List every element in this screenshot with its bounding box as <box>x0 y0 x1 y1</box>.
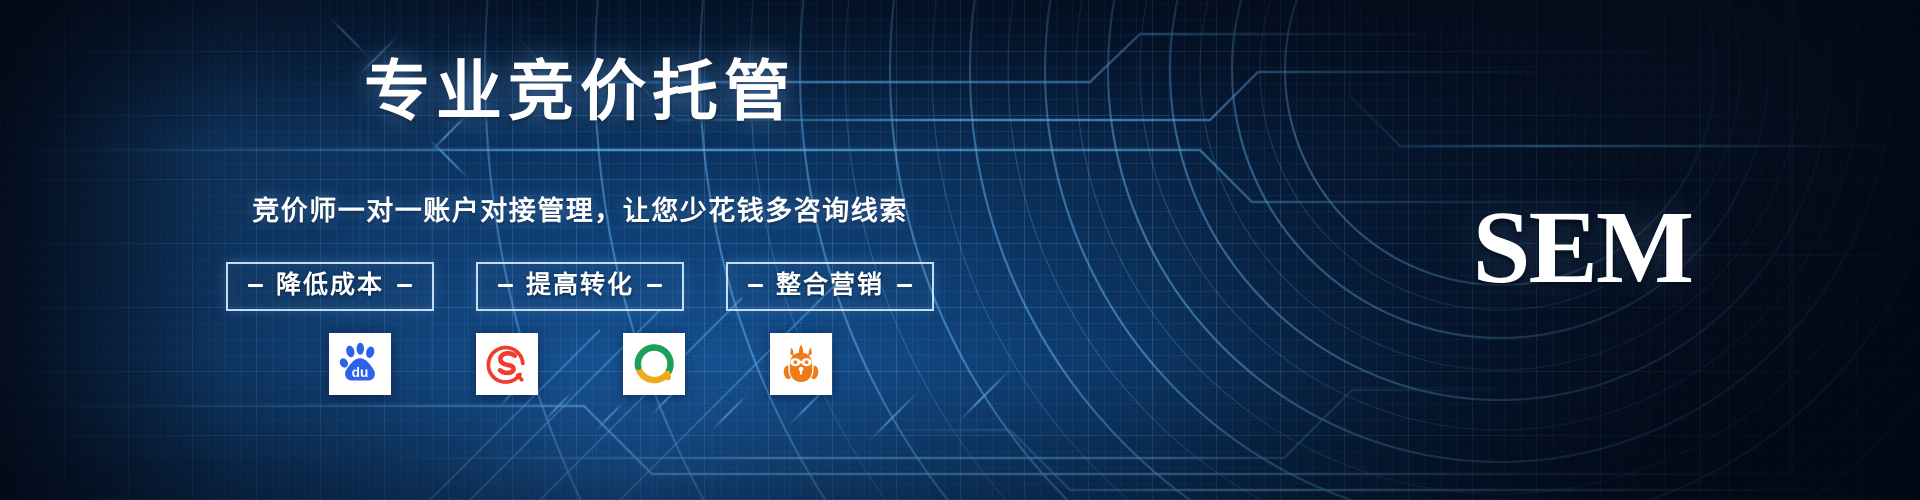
sogou-s-icon <box>484 341 530 387</box>
platform-logo-360-search[interactable] <box>623 333 685 395</box>
platform-logo-shenma[interactable] <box>770 333 832 395</box>
sem-wordmark: SEM <box>1473 196 1692 300</box>
badge-label: 整合营销 <box>776 273 884 298</box>
badge-label: 提高转化 <box>526 273 634 298</box>
feature-badge-improve-conversion[interactable]: 提高转化 <box>476 262 684 311</box>
baidu-paw-icon: du <box>337 341 383 387</box>
platform-logo-sogou[interactable] <box>476 333 538 395</box>
platform-logo-list: du <box>0 333 1160 395</box>
badge-lead-dash-icon <box>248 284 263 287</box>
badge-trail-dash-icon <box>397 284 412 287</box>
banner-content: 专业竞价托管 竞价师一对一账户对接管理，让您少花钱多咨询线索 降低成本 提高转化… <box>0 0 1920 500</box>
badge-lead-dash-icon <box>748 284 763 287</box>
banner-subheadline: 竞价师一对一账户对接管理，让您少花钱多咨询线索 <box>0 198 1160 225</box>
feature-badge-list: 降低成本 提高转化 整合营销 <box>0 262 1160 311</box>
so360-ring-icon <box>631 341 677 387</box>
badge-label: 降低成本 <box>276 273 384 298</box>
badge-lead-dash-icon <box>498 284 513 287</box>
banner-headline: 专业竞价托管 <box>0 58 1160 124</box>
svg-text:du: du <box>351 365 368 380</box>
shenma-alpaca-icon <box>778 341 824 387</box>
feature-badge-reduce-cost[interactable]: 降低成本 <box>226 262 434 311</box>
badge-trail-dash-icon <box>897 284 912 287</box>
feature-badge-integrated-marketing[interactable]: 整合营销 <box>726 262 934 311</box>
sem-promo-banner: 专业竞价托管 竞价师一对一账户对接管理，让您少花钱多咨询线索 降低成本 提高转化… <box>0 0 1920 500</box>
badge-trail-dash-icon <box>647 284 662 287</box>
platform-logo-baidu[interactable]: du <box>329 333 391 395</box>
